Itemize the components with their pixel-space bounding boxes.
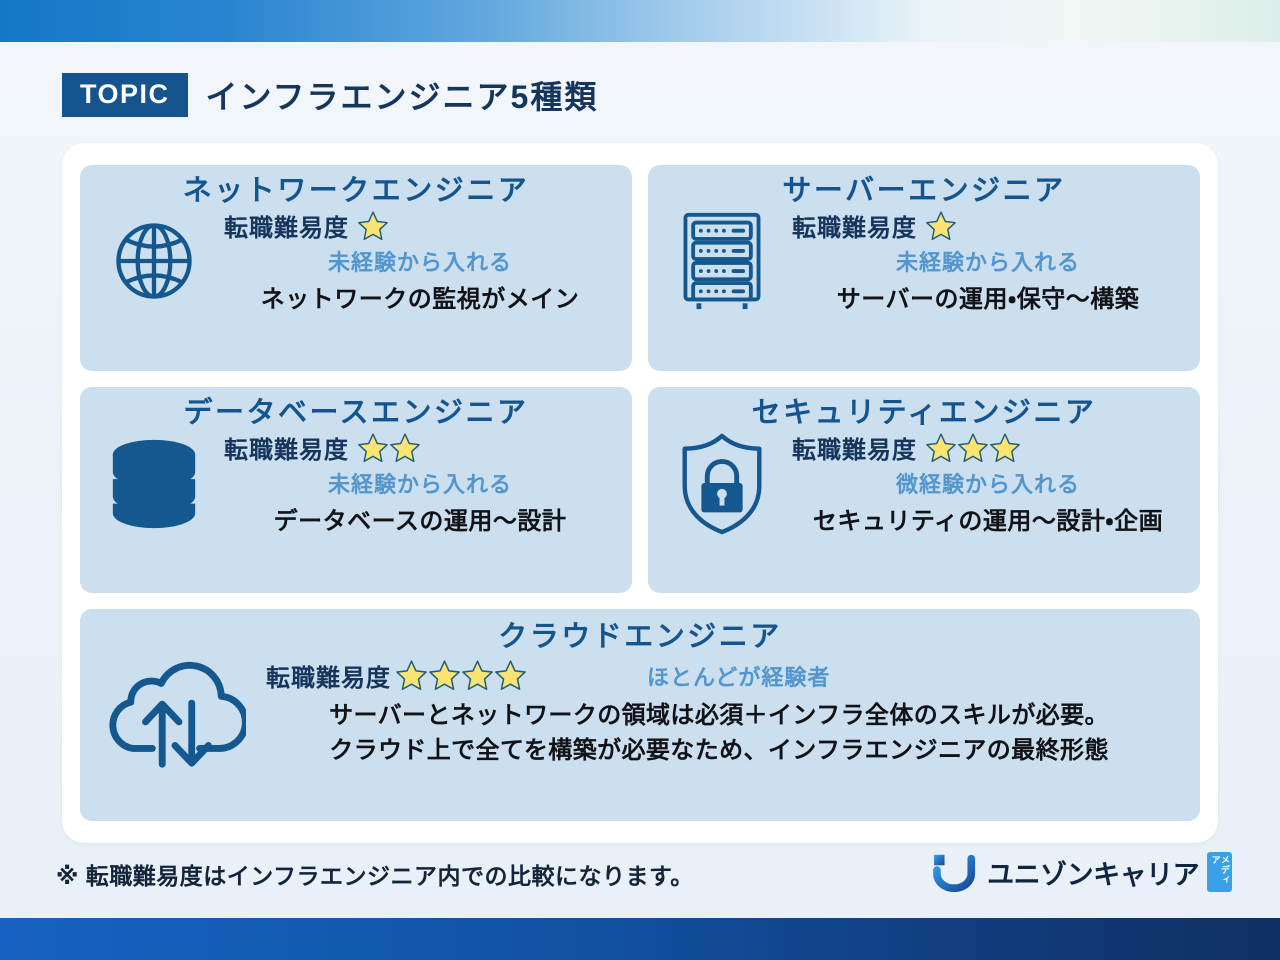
card-body: 転職難易度 未経験から入れる ネットワークの監視がメイン [80,208,632,314]
star-rating [357,210,389,242]
card-text: 転職難易度 未経験から入れる サーバーの運用・保守〜構築 [786,208,1190,314]
cloud-sync-icon [104,654,246,772]
star-icon [461,659,494,692]
star-icon [989,432,1021,464]
card-description: ネットワークの監視がメイン [218,279,622,314]
card-description-line1: サーバーとネットワークの領域は必須＋インフラ全体のスキルが必要。 [260,699,1190,734]
server-rack-icon [676,211,768,311]
card-title: ネットワークエンジニア [80,165,632,208]
experience-note: 微経験から入れる [786,467,1190,499]
content-panel: ネットワークエンジニア [62,143,1218,843]
card-body: 転職難易度 未経験から入れる サーバーの運用・保守〜構築 [648,208,1200,314]
card-text: 転職難易度 ほとんどが経験者 サーバーとネットワークの領域は必須＋インフラ全体の… [260,658,1190,769]
star-icon [925,210,957,242]
card-body: 転職難易度 微経験から入れる セキュリティの運用〜設計・企画 [648,430,1200,536]
card-body: 転職難易度 ほとんどが経験者 サーバーとネットワークの領域は必須＋インフラ全体の… [80,654,1200,772]
icon-slot [90,433,218,533]
card-text: 転職難易度 未経験から入れる ネットワークの監視がメイン [218,208,622,314]
star-rating [925,210,957,242]
card-description-line2: クラウド上で全てを構築が必要なため、インフラエンジニアの最終形態 [260,734,1190,769]
difficulty-row: 転職難易度 [792,208,1190,243]
card-title: データベースエンジニア [80,387,632,430]
icon-slot [90,654,260,772]
footnote: ※ 転職難易度はインフラエンジニア内での比較になります。 [56,857,694,891]
difficulty-label: 転職難易度 [224,430,349,465]
card-grid: ネットワークエンジニア [80,165,1200,821]
difficulty-label: 転職難易度 [792,208,917,243]
difficulty-row: 転職難易度 [224,430,622,465]
card-description: サーバーの運用・保守〜構築 [786,279,1190,314]
icon-slot [658,431,786,535]
difficulty-row: 転職難易度 ほとんどが経験者 [260,658,1190,693]
header: TOPIC インフラエンジニア5種類 [62,72,598,118]
difficulty-row: 転職難易度 [792,430,1190,465]
star-icon [494,659,527,692]
footer: ※ 転職難易度はインフラエンジニア内での比較になります。 ユニゾンキャリア メデ… [0,843,1280,918]
icon-slot [90,213,218,309]
card-text: 転職難易度 未経験から入れる データベースの運用〜設計 [218,430,622,536]
difficulty-row: 転職難易度 [224,208,622,243]
card-security[interactable]: セキュリティエンジニア 転職難易度 [648,387,1200,593]
star-icon [428,659,461,692]
difficulty-label: 転職難易度 [792,430,917,465]
star-rating [357,432,421,464]
icon-slot [658,211,786,311]
star-icon [957,432,989,464]
experience-note: 未経験から入れる [218,467,622,499]
infographic-slide: TOPIC インフラエンジニア5種類 ネットワークエンジニア [0,0,1280,960]
database-icon [105,433,203,533]
card-title: クラウドエンジニア [80,609,1200,654]
difficulty-label: 転職難易度 [224,208,349,243]
globe-icon [106,213,202,309]
top-gradient-band [0,0,1280,42]
star-icon [925,432,957,464]
card-database[interactable]: データベースエンジニア [80,387,632,593]
experience-note: ほとんどが経験者 [647,660,830,692]
star-icon [395,659,428,692]
logo-media-badge: メディア [1207,852,1232,892]
card-cloud[interactable]: クラウドエンジニア [80,609,1200,821]
logo-wordmark: ユニゾンキャリア [987,853,1199,892]
card-title: サーバーエンジニア [648,165,1200,208]
card-text: 転職難易度 微経験から入れる セキュリティの運用〜設計・企画 [786,430,1190,536]
topic-badge: TOPIC [62,73,188,117]
card-description: データベースの運用〜設計 [218,501,622,536]
star-icon [357,210,389,242]
bottom-gradient-band [0,918,1280,960]
page-title: インフラエンジニア5種類 [206,72,599,118]
card-title: セキュリティエンジニア [648,387,1200,430]
difficulty-label: 転職難易度 [266,658,391,693]
unison-u-logo-icon [933,851,979,893]
card-network[interactable]: ネットワークエンジニア [80,165,632,371]
experience-note: 未経験から入れる [218,245,622,277]
card-server[interactable]: サーバーエンジニア [648,165,1200,371]
star-icon [357,432,389,464]
card-body: 転職難易度 未経験から入れる データベースの運用〜設計 [80,430,632,536]
brand-logo[interactable]: ユニゾンキャリア メディア [933,851,1232,893]
shield-lock-icon [674,431,770,535]
star-rating [925,432,1021,464]
star-rating [395,659,527,692]
experience-note: 未経験から入れる [786,245,1190,277]
card-description: セキュリティの運用〜設計・企画 [786,501,1190,536]
star-icon [389,432,421,464]
